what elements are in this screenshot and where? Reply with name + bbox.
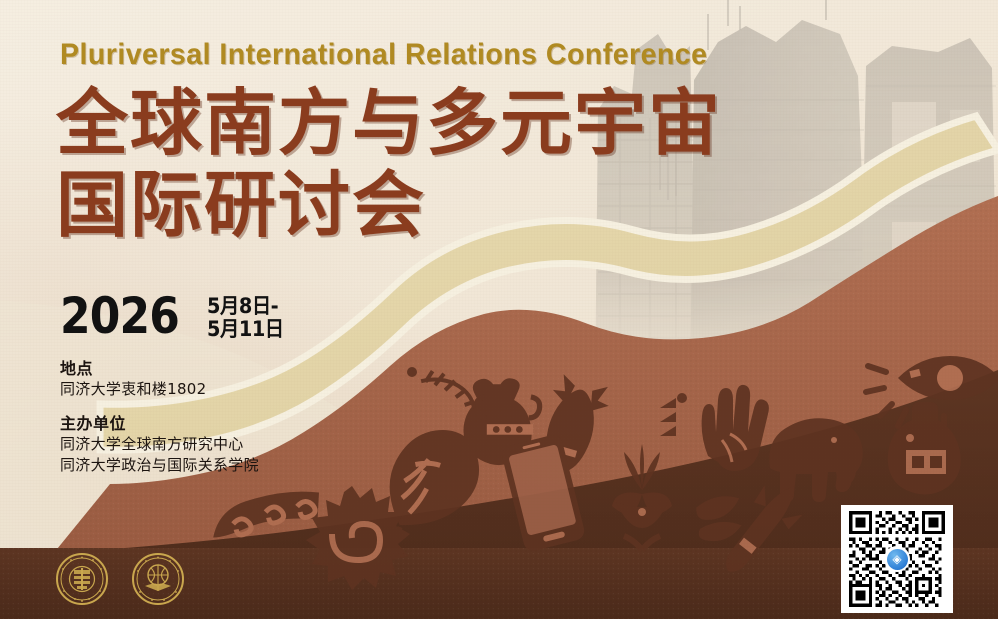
- event-date-range: 5月8日- 5月11日: [207, 292, 284, 341]
- chinese-title-line-2: 国际研讨会: [56, 164, 722, 246]
- event-year: 2026: [60, 292, 179, 340]
- wechat-qr-code[interactable]: ◈: [841, 505, 953, 613]
- tongji-university-seal: [55, 552, 109, 606]
- organizer-label: 主办单位: [60, 413, 259, 434]
- english-title: Pluriversal International Relations Conf…: [60, 40, 707, 70]
- organizer-line-2: 同济大学政治与国际关系学院: [60, 455, 259, 476]
- venue-value: 同济大学衷和楼1802: [60, 379, 259, 400]
- event-details: 地点 同济大学衷和楼1802 主办单位 同济大学全球南方研究中心 同济大学政治与…: [60, 358, 259, 476]
- page-title: 全球南方与多元宇宙 国际研讨会: [56, 82, 722, 246]
- date-end: 5月11日: [207, 318, 284, 341]
- school-of-political-science-seal: [131, 552, 185, 606]
- dot-accent: [407, 367, 417, 377]
- chinese-title-line-1: 全球南方与多元宇宙: [56, 81, 722, 165]
- organizer-logos: [55, 552, 185, 606]
- qr-logo-glyph: ◈: [887, 549, 908, 570]
- qr-center-logo: ◈: [884, 546, 910, 572]
- event-date: 2026 5月8日- 5月11日: [60, 292, 291, 341]
- venue-label: 地点: [60, 358, 259, 379]
- conference-poster: Pluriversal International Relations Conf…: [0, 0, 998, 619]
- date-start: 5月8日-: [207, 295, 284, 318]
- organizer-line-1: 同济大学全球南方研究中心: [60, 434, 259, 455]
